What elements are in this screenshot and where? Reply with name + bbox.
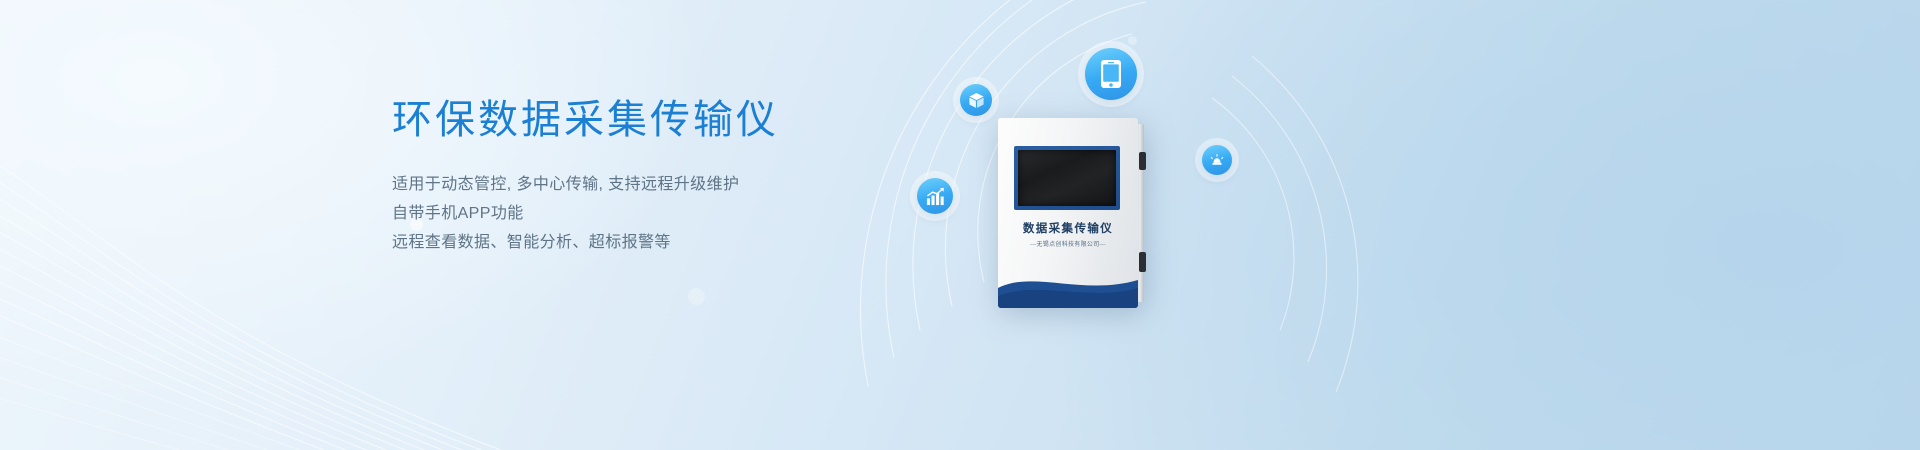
device-label-main: 数据采集传输仪 [998,220,1138,236]
decorative-dot [688,288,705,305]
alarm-siren-icon[interactable] [1202,145,1232,175]
bar-chart-growth-icon[interactable] [917,178,953,214]
device-latch-upper [1139,152,1146,170]
cube-box-icon[interactable] [960,84,992,116]
mobile-phone-icon[interactable] [1085,48,1137,100]
device-nameplate: 数据采集传输仪 —无锡点创科技有限公司— [998,220,1138,248]
hero-copy: 环保数据采集传输仪 适用于动态管控, 多中心传输, 支持远程升级维护 自带手机A… [392,96,872,257]
device-label-sub: —无锡点创科技有限公司— [998,239,1138,248]
device-enclosure: 数据采集传输仪 —无锡点创科技有限公司— [998,118,1138,308]
subtitle-line: 远程查看数据、智能分析、超标报警等 [392,228,872,257]
signal-arcs [860,0,1500,450]
device-latch-lower [1139,252,1146,272]
subtitle-line: 自带手机APP功能 [392,199,872,228]
product-hero-banner: 环保数据采集传输仪 适用于动态管控, 多中心传输, 支持远程升级维护 自带手机A… [0,0,1920,450]
device-screen-bezel [1014,146,1120,210]
page-title: 环保数据采集传输仪 [392,96,872,144]
device-base-wave [998,266,1138,308]
subtitle-line: 适用于动态管控, 多中心传输, 支持远程升级维护 [392,170,872,199]
subtitle-list: 适用于动态管控, 多中心传输, 支持远程升级维护 自带手机APP功能 远程查看数… [392,170,872,257]
device-screen [1018,150,1116,206]
product-device-image: 数据采集传输仪 —无锡点创科技有限公司— [998,118,1138,308]
